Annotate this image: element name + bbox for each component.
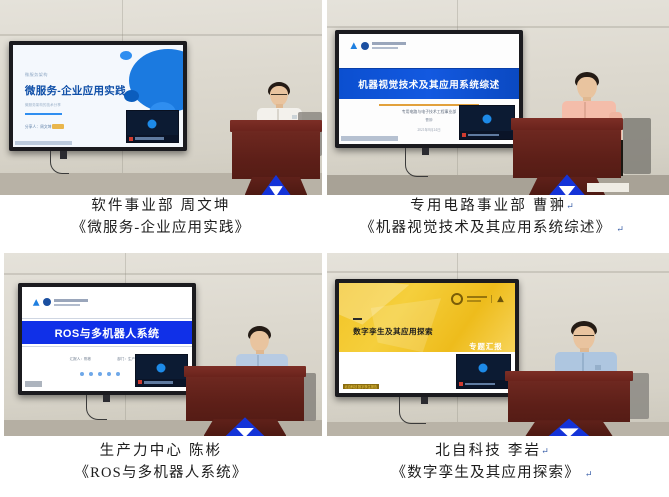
- logo-circle-icon: [361, 42, 369, 50]
- slide-title: 机器视觉技术及其应用系统综述: [339, 77, 519, 91]
- head: [573, 326, 595, 350]
- caption-line-1-text: 北自科技 李岩: [435, 443, 541, 459]
- slide-title: 数字孪生及其应用探索: [353, 326, 433, 337]
- slide-kicker: 微服务架构: [25, 72, 48, 78]
- avatar: [157, 363, 166, 372]
- caption-line-2-text: 《数字孪生及其应用探索》: [392, 465, 580, 481]
- head: [270, 86, 288, 106]
- logo-separator: [491, 295, 492, 303]
- paragraph-mark: ↵: [585, 469, 593, 479]
- photo-bottom-left: ROS与多机器人系统 汇报人：陈彬 部门：生产力中心: [4, 253, 322, 436]
- pip-label: [135, 137, 164, 139]
- logo-circle-icon: [43, 298, 51, 306]
- chair-back: [623, 118, 651, 174]
- podium-body: [186, 377, 303, 421]
- photo-grid-page: 微服务架构 微服务-企业应用实践 微服务架构的技术分享 分享人：周文坤: [0, 0, 669, 497]
- caption-bottom-left: 生产力中心 陈彬 《ROS与多机器人系统》: [0, 441, 322, 484]
- tv-cable: [399, 397, 426, 424]
- slide-top-left: 微服务架构 微服务-企业应用实践 微服务架构的技术分享 分享人：周文坤: [13, 45, 183, 147]
- pip-label: [144, 381, 173, 383]
- record-dot-icon: [462, 133, 466, 137]
- avatar: [482, 115, 491, 124]
- podium-top: [230, 120, 322, 132]
- caption-line-1: 软件事业部 周文坤: [0, 196, 322, 217]
- caption-line-1-text: 专用电路事业部 曹翀: [410, 198, 566, 214]
- caption-top-right: 专用电路事业部 曹翀↵ 《机器视觉技术及其应用系统综述》↵: [327, 196, 657, 240]
- slide-footnote: [15, 141, 73, 145]
- caption-top-left: 软件事业部 周文坤 《微服务-企业应用实践》: [0, 196, 322, 239]
- podium-body: [508, 381, 631, 422]
- record-dot-icon: [459, 382, 463, 386]
- photo-top-right: 机器视觉技术及其应用系统综述 专用电路与电子技术工程事业部 曹翀 2021年8月…: [327, 0, 669, 195]
- video-pip: [126, 110, 179, 143]
- tv-display-top-right: 机器视觉技术及其应用系统综述 专用电路与电子技术工程事业部 曹翀 2021年8月…: [335, 30, 523, 148]
- desk-paper: [587, 183, 629, 192]
- wall-seam: [327, 26, 669, 28]
- slide-dash-rule: [353, 318, 362, 320]
- dot-icon: [89, 372, 93, 376]
- podium-top: [184, 366, 306, 377]
- logo-wordmark: [467, 296, 487, 298]
- podium-top-left: [230, 120, 322, 195]
- slide-footnote: [341, 136, 399, 140]
- slide-title: 微服务-企业应用实践: [25, 83, 126, 98]
- podium-bottom-right: [505, 371, 633, 436]
- caption-bottom-right: 北自科技 李岩↵ 《数字孪生及其应用探索》↵: [327, 441, 657, 485]
- photo-top-left: 微服务架构 微服务-企业应用实践 微服务架构的技术分享 分享人：周文坤: [0, 0, 322, 195]
- tv-screen: 数字孪生及其应用探索 专题汇报 北自科技 数字孪生报告: [339, 283, 515, 393]
- avatar: [479, 364, 488, 373]
- slide-logo-row: [350, 42, 406, 50]
- record-dot-icon: [138, 380, 142, 384]
- glasses: [574, 335, 594, 337]
- head: [250, 331, 269, 352]
- slide-top-right: 机器视觉技术及其应用系统综述 专用电路与电子技术工程事业部 曹翀 2021年8月…: [339, 34, 519, 144]
- tv-cable: [86, 395, 107, 420]
- slide-bottom-left: ROS与多机器人系统 汇报人：陈彬 部门：生产力中心: [22, 287, 192, 391]
- slide-left-label: 汇报人：陈彬: [70, 357, 92, 362]
- wall-seam: [4, 273, 322, 275]
- caption-line-2: 《微服务-企业应用实践》: [0, 217, 322, 239]
- dot-icon: [98, 372, 102, 376]
- tv-display-bottom-right: 数字孪生及其应用探索 专题汇报 北自科技 数字孪生报告: [335, 279, 519, 397]
- pip-bar: [457, 380, 510, 387]
- tv-screen: 微服务架构 微服务-企业应用实践 微服务架构的技术分享 分享人：周文坤: [13, 45, 183, 147]
- dot-icon: [116, 372, 120, 376]
- slide-highlight-chip: [52, 124, 64, 129]
- caption-line-2: 《数字孪生及其应用探索》↵: [327, 462, 657, 485]
- caption-line-1: 专用电路事业部 曹翀↵: [327, 196, 657, 217]
- tv-cable: [50, 151, 69, 174]
- video-pip: [456, 354, 511, 389]
- shirt-pocket: [595, 365, 601, 370]
- tv-display-top-left: 微服务架构 微服务-企业应用实践 微服务架构的技术分享 分享人：周文坤: [9, 41, 187, 151]
- slide-dot-row: [80, 372, 120, 376]
- caption-line-1: 生产力中心 陈彬: [0, 441, 322, 462]
- tv-display-bottom-left: ROS与多机器人系统 汇报人：陈彬 部门：生产力中心: [18, 283, 196, 395]
- caption-line-2-text: 《机器视觉技术及其应用系统综述》: [360, 220, 611, 236]
- pip-label: [468, 134, 499, 136]
- tv-cable: [405, 148, 428, 177]
- divider-bottom: [22, 346, 192, 347]
- slide-logo-row: [32, 298, 88, 306]
- avatar: [148, 120, 157, 129]
- slide-subtitle: 微服务架构的技术分享: [25, 103, 61, 108]
- logo-subtext: [467, 300, 481, 302]
- podium-body: [232, 131, 320, 178]
- video-pip: [135, 354, 188, 387]
- record-dot-icon: [129, 137, 133, 141]
- pip-bar: [136, 379, 187, 386]
- slide-corner-badge: [25, 381, 42, 387]
- podium-body: [513, 130, 621, 179]
- divider-top: [22, 318, 192, 319]
- dot-icon: [80, 372, 84, 376]
- slide-title: ROS与多机器人系统: [22, 325, 192, 341]
- video-pip: [459, 105, 515, 140]
- slide-bottom-right: 数字孪生及其应用探索 专题汇报 北自科技 数字孪生报告: [339, 283, 515, 393]
- slide-footer: 分享人：周文坤: [25, 125, 52, 130]
- head: [577, 77, 597, 99]
- photo-bottom-right: 数字孪生及其应用探索 专题汇报 北自科技 数字孪生报告: [327, 253, 669, 436]
- paragraph-mark: ↵: [541, 446, 549, 456]
- logo-subtext: [372, 47, 398, 49]
- pip-bar: [127, 135, 178, 142]
- podium-bottom-left: [184, 366, 306, 436]
- tv-screen: 机器视觉技术及其应用系统综述 专用电路与电子技术工程事业部 曹翀 2021年8月…: [339, 34, 519, 144]
- tv-screen: ROS与多机器人系统 汇报人：陈彬 部门：生产力中心: [22, 287, 192, 391]
- logo-wordmark: [54, 299, 88, 302]
- logo-wordmark: [372, 42, 406, 45]
- paragraph-mark: ↵: [616, 224, 624, 234]
- dot-icon: [107, 372, 111, 376]
- glasses: [271, 94, 287, 96]
- shirt-pocket-logo: [292, 115, 297, 119]
- podium-top: [511, 118, 623, 130]
- logo-triangle-icon: [496, 295, 504, 303]
- bubble-tiny: [120, 51, 132, 60]
- logo-triangle-icon: [350, 42, 358, 50]
- pip-label: [465, 383, 495, 385]
- paragraph-mark: ↵: [566, 201, 574, 211]
- slide-corner-badge: 北自科技 数字孪生报告: [343, 384, 380, 389]
- slide-logo-row: [451, 293, 504, 305]
- slide-rule: [25, 113, 62, 115]
- pip-bar: [460, 131, 514, 138]
- wall-seam: [0, 34, 322, 36]
- caption-line-1: 北自科技 李岩↵: [327, 441, 657, 462]
- logo-subtext: [54, 304, 80, 306]
- slide-tag: 专题汇报: [469, 341, 503, 352]
- caption-line-2: 《ROS与多机器人系统》: [0, 462, 322, 484]
- logo-triangle-icon: [32, 298, 40, 306]
- wall-seam: [327, 271, 669, 273]
- logo-ring-icon: [451, 293, 463, 305]
- caption-line-2: 《机器视觉技术及其应用系统综述》↵: [327, 217, 657, 240]
